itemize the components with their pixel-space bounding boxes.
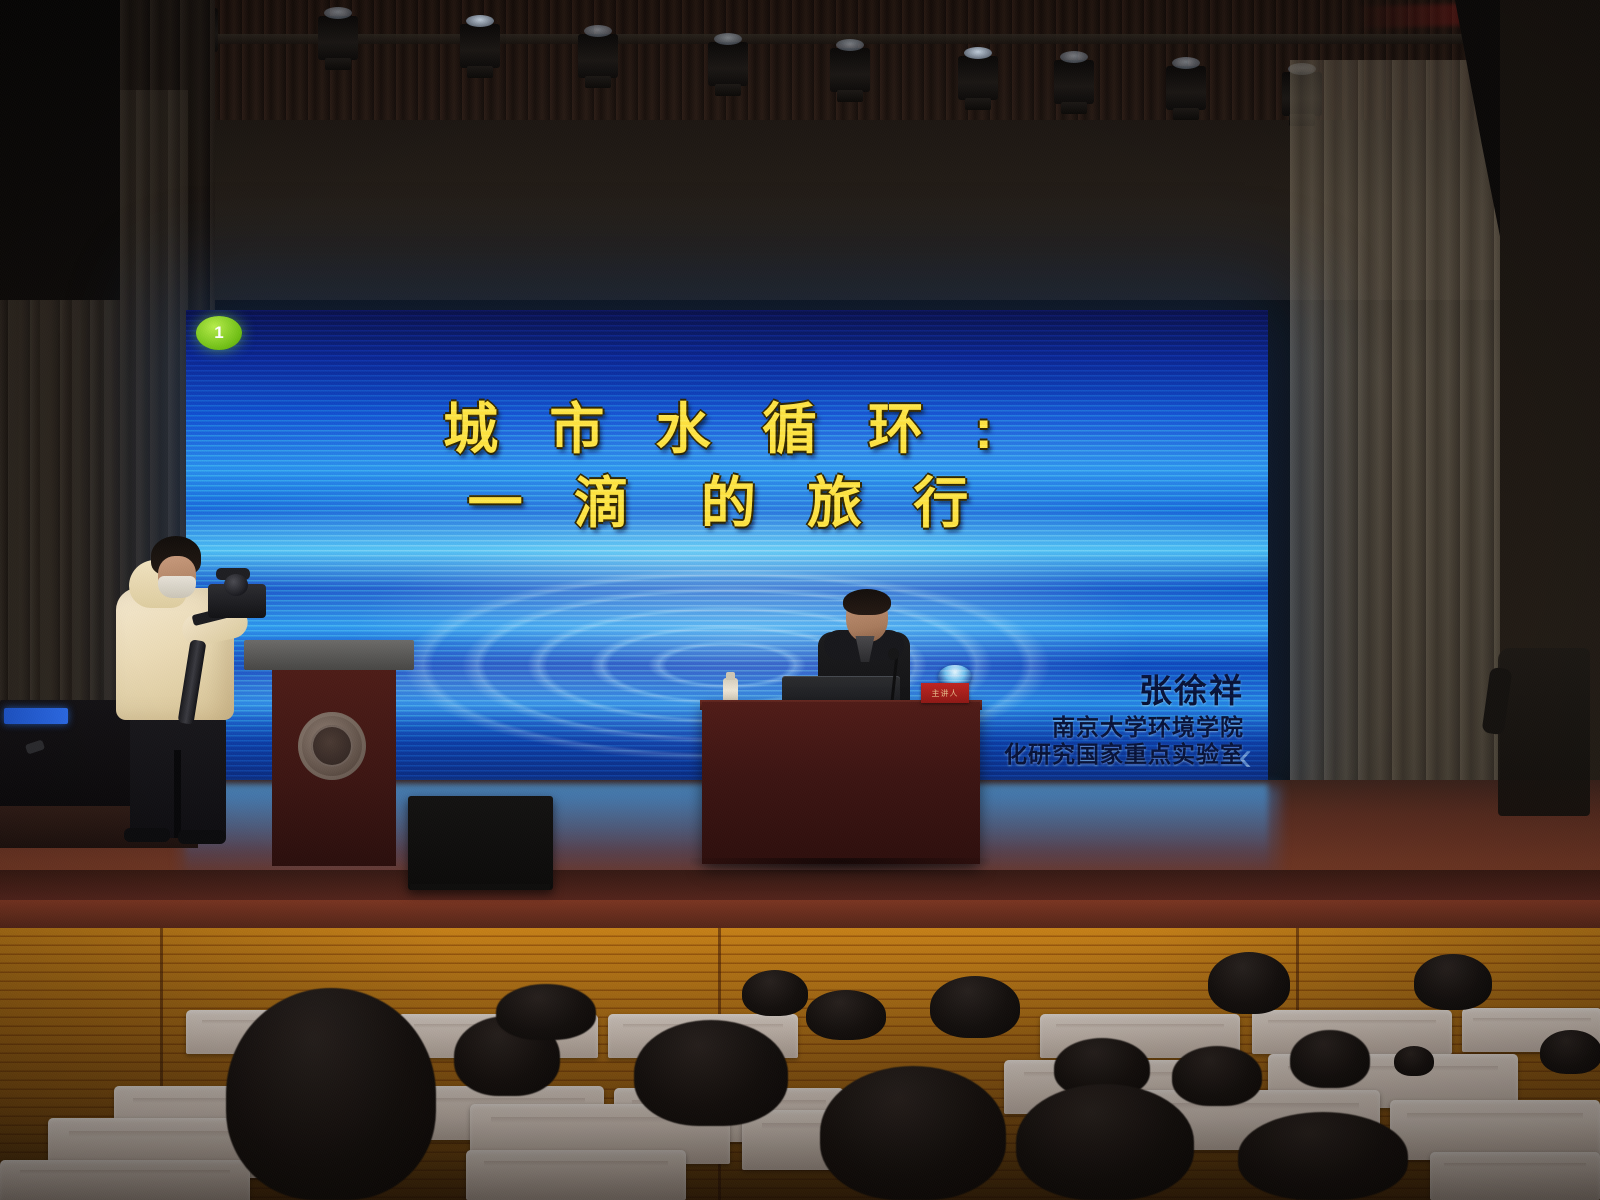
podium-emblem-inner [311,725,353,767]
stage-light-icon [318,16,358,60]
stage-apron-shadow [0,870,1600,904]
speaker-monitor-icon [408,796,553,890]
audience-head [1540,1030,1600,1074]
person-standing-right [1498,648,1590,816]
audience-head [634,1020,788,1126]
audience-head [1208,952,1290,1014]
equipment-display-panel [4,708,68,724]
stage-light-icon [578,34,618,78]
audience-seat [0,1160,250,1200]
audience-head [496,984,596,1040]
nameplate-placard: 主讲人 [921,683,969,703]
camera-lens-icon [224,574,248,596]
audience-head [1016,1084,1194,1200]
audience-head [806,990,886,1040]
cameraman-shoe-right [178,830,226,844]
audience-head [1172,1046,1262,1106]
presenter-desk [702,702,980,864]
monitor-base [410,884,550,890]
bottle-cap [726,672,735,680]
audience-head [1414,954,1492,1010]
microphone-capsule [888,648,899,660]
audience-head [1394,1046,1434,1076]
audience-head [820,1066,1006,1200]
audience-head [1238,1112,1408,1200]
audience-seat [466,1150,686,1200]
stage-light-icon [460,24,500,68]
slide-badge-icon: 1 [196,316,242,350]
nameplate-text: 主讲人 [921,683,969,703]
lectern-podium[interactable] [272,640,412,865]
cameraman-shoe-left [124,828,170,842]
audience-seat [1390,1100,1600,1160]
audience-seat [1430,1152,1600,1200]
stage-curtain-left-inner [0,0,120,300]
face-mask-icon [158,576,196,598]
stage-light-icon [708,42,748,86]
audience-head [930,976,1020,1038]
stage-light-icon [1166,66,1206,110]
desk-shadow [690,858,990,874]
audience-head [1290,1030,1370,1088]
stage-light-icon [1054,60,1094,104]
audience-head [226,988,436,1200]
presenter-hair [843,589,891,615]
cameraman [96,536,271,848]
podium-emblem-icon [298,712,366,780]
stage-light-icon [830,48,870,92]
audience-head [742,970,808,1016]
cameraman-leg-gap [174,750,181,838]
auditorium-lecture-photo: 城 市 水 循 环 : 一 滴的 旅 行 张徐祥 南京大学环境学院 化研究国家重… [0,0,1600,1200]
stage-light-icon [958,56,998,100]
